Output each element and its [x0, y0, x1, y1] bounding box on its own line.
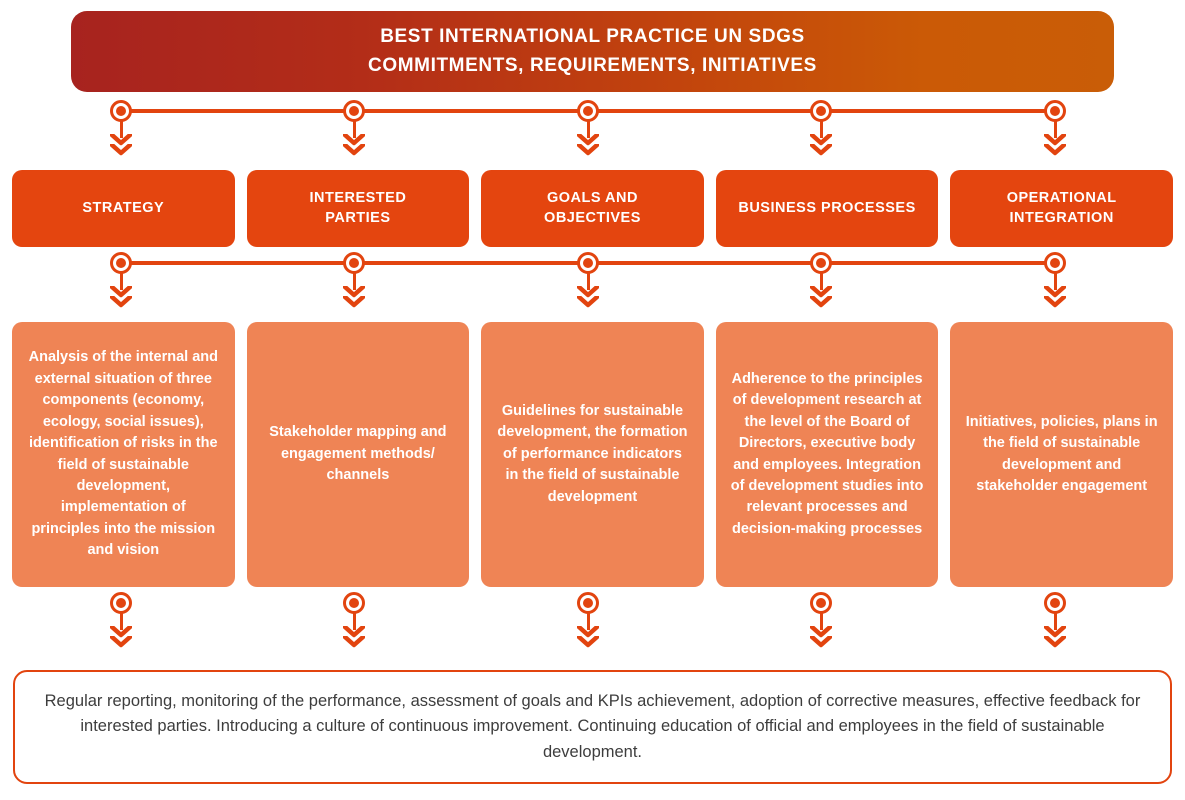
chevron-down-icon: [343, 636, 365, 648]
category-label: BUSINESS PROCESSES: [738, 199, 915, 219]
category-box-goals-and-objectives[interactable]: GOALS AND OBJECTIVES: [481, 170, 704, 247]
chevron-down-icon: [1044, 636, 1066, 648]
header-title-line-2: COMMITMENTS, REQUIREMENTS, INITIATIVES: [368, 52, 817, 81]
detail-box-interested-parties[interactable]: Stakeholder mapping and engagement metho…: [247, 322, 470, 587]
detail-text: Stakeholder mapping and engagement metho…: [261, 422, 456, 486]
chevron-down-icon: [810, 296, 832, 308]
chevron-down-icon: [577, 636, 599, 648]
chevron-down-icon: [577, 144, 599, 156]
sdg-framework-diagram: BEST INTERNATIONAL PRACTICE UN SDGS COMM…: [0, 0, 1185, 800]
category-label: GOALS AND OBJECTIVES: [544, 189, 641, 228]
chevron-down-icon: [110, 296, 132, 308]
category-label: STRATEGY: [82, 199, 164, 219]
detail-text: Initiatives, policies, plans in the fiel…: [964, 412, 1159, 498]
detail-boxes-row: Analysis of the internal and external si…: [12, 322, 1173, 587]
header-title-line-1: BEST INTERNATIONAL PRACTICE UN SDGS: [380, 23, 805, 52]
category-box-interested-parties[interactable]: INTERESTED PARTIES: [247, 170, 470, 247]
chevron-down-icon: [110, 144, 132, 156]
chevron-down-icon: [343, 144, 365, 156]
detail-box-business-processes[interactable]: Adherence to the principles of developme…: [716, 322, 939, 587]
header-banner: BEST INTERNATIONAL PRACTICE UN SDGS COMM…: [71, 11, 1114, 92]
category-box-operational-integration[interactable]: OPERATIONAL INTEGRATION: [950, 170, 1173, 247]
chevron-down-icon: [577, 296, 599, 308]
connector-row-details-to-footer: [0, 588, 1185, 652]
chevron-down-icon: [343, 296, 365, 308]
detail-box-strategy[interactable]: Analysis of the internal and external si…: [12, 322, 235, 587]
chevron-down-icon: [810, 144, 832, 156]
detail-box-goals-and-objectives[interactable]: Guidelines for sustainable development, …: [481, 322, 704, 587]
chevron-down-icon: [1044, 144, 1066, 156]
footer-summary-box[interactable]: Regular reporting, monitoring of the per…: [13, 670, 1172, 784]
category-label: OPERATIONAL INTEGRATION: [1007, 189, 1117, 228]
category-label: INTERESTED PARTIES: [309, 189, 406, 228]
connector-row-categories-to-details: [0, 248, 1185, 312]
category-boxes-row: STRATEGY INTERESTED PARTIES GOALS AND OB…: [12, 170, 1173, 247]
detail-text: Analysis of the internal and external si…: [26, 347, 221, 562]
detail-text: Guidelines for sustainable development, …: [495, 401, 690, 508]
footer-text: Regular reporting, monitoring of the per…: [41, 689, 1144, 766]
detail-text: Adherence to the principles of developme…: [730, 369, 925, 541]
connector-row-header-to-categories: [0, 96, 1185, 160]
chevron-down-icon: [810, 636, 832, 648]
chevron-down-icon: [110, 636, 132, 648]
detail-box-operational-integration[interactable]: Initiatives, policies, plans in the fiel…: [950, 322, 1173, 587]
category-box-strategy[interactable]: STRATEGY: [12, 170, 235, 247]
chevron-down-icon: [1044, 296, 1066, 308]
category-box-business-processes[interactable]: BUSINESS PROCESSES: [716, 170, 939, 247]
